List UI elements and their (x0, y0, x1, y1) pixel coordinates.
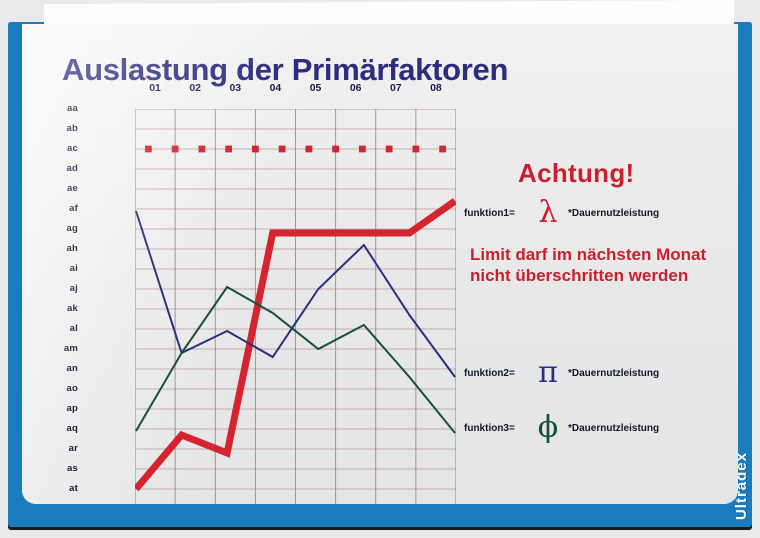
y-tick-ab: ab (67, 123, 79, 134)
y-tick-at: at (69, 483, 78, 494)
y-tick-aj: aj (70, 283, 78, 294)
y-tick-ap: ap (67, 403, 79, 414)
x-tick-05: 05 (296, 82, 336, 94)
y-tick-am: am (64, 343, 78, 354)
y-tick-an: an (67, 363, 79, 374)
legend-note-funktion1: *Dauernutzleistung (568, 208, 659, 219)
x-tick-06: 06 (336, 82, 376, 94)
y-tick-ah: ah (67, 243, 79, 254)
y-tick-ag: ag (67, 223, 79, 234)
y-tick-au: au (67, 503, 79, 504)
legend-label-funktion2: funktion2= (464, 368, 528, 379)
x-tick-03: 03 (215, 82, 255, 94)
x-tick-07: 07 (376, 82, 416, 94)
y-tick-aa: aa (67, 103, 78, 114)
warning-heading: Achtung! (518, 158, 634, 189)
chart-x-axis-labels: 0102030405060708 (82, 82, 417, 104)
legend-row-funktion2: funktion2= π *Dauernutzleistung (464, 358, 659, 388)
y-tick-ar: ar (69, 443, 78, 454)
printed-sheet: Auslastung der Primärfaktoren 0102030405… (22, 24, 738, 504)
chart: 0102030405060708 aaabacadaeafagahaiajaka… (82, 82, 417, 504)
chart-y-axis-labels: aaabacadaeafagahaiajakalamanaoapaqarasat… (40, 104, 80, 504)
chart-plot-area (135, 109, 456, 504)
chart-svg (135, 109, 456, 504)
y-tick-ac: ac (67, 143, 78, 154)
legend-symbol-pi: π (528, 358, 568, 388)
legend-symbol-phi: ϕ (528, 413, 568, 443)
y-tick-ak: ak (67, 303, 78, 314)
x-tick-04: 04 (255, 82, 295, 94)
x-tick-08: 08 (416, 82, 456, 94)
planning-board: Ultradex Auslastung der Primärfaktoren 0… (0, 0, 760, 538)
y-tick-ao: ao (67, 383, 79, 394)
legend-note-funktion2: *Dauernutzleistung (568, 368, 659, 379)
y-tick-as: as (67, 463, 78, 474)
x-tick-01: 01 (135, 82, 175, 94)
y-tick-aq: aq (67, 423, 79, 434)
legend-row-funktion1: funktion1= λ *Dauernutzleistung (464, 198, 659, 228)
notes-panel: Achtung! Limit darf im nächsten Monat ni… (460, 110, 738, 490)
y-tick-ai: ai (70, 263, 78, 274)
y-tick-ae: ae (67, 183, 78, 194)
y-tick-ad: ad (67, 163, 79, 174)
legend-note-funktion3: *Dauernutzleistung (568, 423, 659, 434)
limit-message: Limit darf im nächsten Monat nicht übers… (470, 244, 735, 287)
legend-label-funktion3: funktion3= (464, 423, 528, 434)
legend-symbol-lambda: λ (528, 198, 568, 228)
y-tick-af: af (69, 203, 78, 214)
legend-row-funktion3: funktion3= ϕ *Dauernutzleistung (464, 413, 659, 443)
legend-label-funktion1: funktion1= (464, 208, 528, 219)
y-tick-al: al (70, 323, 78, 334)
x-tick-02: 02 (175, 82, 215, 94)
